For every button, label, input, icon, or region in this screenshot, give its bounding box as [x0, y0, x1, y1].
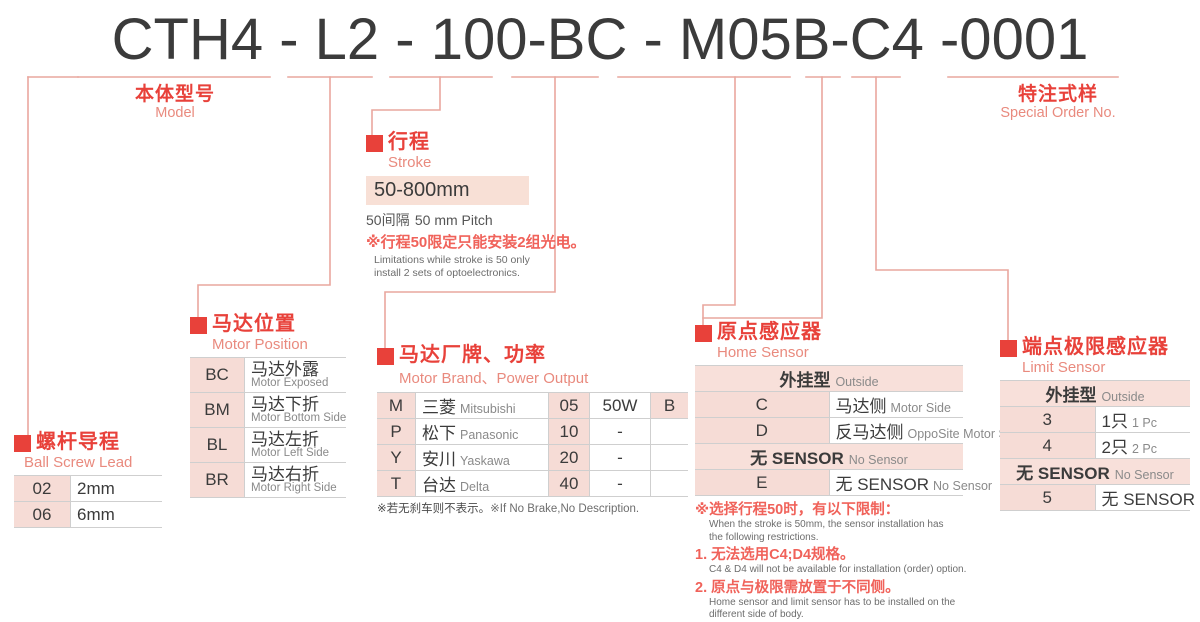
cell-value-cn: 马达下折 [251, 396, 340, 414]
block-model-title-cn: 本体型号 [105, 85, 245, 105]
block-motor-position: 马达位置 Motor Position BC 马达外露 Motor Expose… [190, 314, 346, 498]
band-outside: 外挂型Outside [695, 366, 963, 392]
block-ball-screw-lead-title-cn: 螺杆导程 [36, 431, 120, 453]
cell-code: 3 [1000, 407, 1095, 433]
note-item1-cn: 1. 无法选用C4;D4规格。 [695, 546, 995, 564]
stroke-pitch-en: 50 mm Pitch [415, 212, 493, 228]
cell-value-cn: 无 SENSOR [1102, 490, 1196, 509]
table-band-row: 外挂型Outside [1000, 381, 1190, 407]
cell-value-cn: 反马达侧 [836, 423, 904, 442]
cell-code: BL [190, 428, 245, 463]
table-row: BL 马达左折 Motor Left Side [190, 428, 346, 463]
cell-brand-cn: 安川 [422, 450, 456, 469]
block-stroke-title-cn: 行程 [388, 131, 430, 153]
note-item2-cn: 2. 原点与极限需放置于不同侧。 [695, 579, 995, 597]
motor-brand-footnote-en: ※If No Brake,No Description. [490, 503, 639, 515]
home-sensor-table: 外挂型Outside C 马达侧Motor Side D 反马达侧OppoSit… [695, 365, 963, 496]
block-motor-brand-title-cn: 马达厂牌、功率 [399, 344, 546, 366]
cell-power-code: 05 [549, 393, 590, 419]
cell-brake-code [651, 471, 689, 497]
cell-value: 马达侧Motor Side [829, 392, 963, 418]
cell-brand: 安川Yaskawa [416, 445, 549, 471]
block-motor-brand: 马达厂牌、功率 Motor Brand、Power Output M 三菱Mit… [377, 345, 688, 516]
cell-brand: 松下Panasonic [416, 419, 549, 445]
band-outside-cn: 外挂型 [1045, 386, 1096, 405]
block-home-sensor-heading: 原点感应器 [695, 322, 995, 343]
stroke-note-cn: ※行程50限定只能安装2组光电。 [366, 234, 586, 252]
cell-code: 4 [1000, 433, 1095, 459]
table-row: 4 2只2 Pc [1000, 433, 1190, 459]
table-row: Y 安川Yaskawa 20 - [377, 445, 688, 471]
band-no-sensor-en: No Sensor [849, 453, 908, 467]
table-band-row: 无 SENSORNo Sensor [1000, 459, 1190, 485]
cell-value-en: Motor Left Side [251, 447, 340, 459]
cell-value: 2mm [71, 476, 163, 502]
motor-brand-table: M 三菱Mitsubishi 05 50W B P 松下Panasonic 10… [377, 392, 688, 497]
cell-brake-code [651, 445, 689, 471]
block-special-order: 特注式样 Special Order No. [963, 85, 1153, 122]
cell-code: 5 [1000, 485, 1095, 511]
block-limit-sensor-title-cn: 端点极限感应器 [1022, 336, 1169, 358]
cell-value-cn: 马达侧 [836, 397, 887, 416]
block-model: 本体型号 Model [105, 85, 245, 122]
cell-value-en: 1 Pc [1132, 416, 1157, 430]
limit-sensor-table: 外挂型Outside 3 1只1 Pc 4 2只2 Pc 无 SENSORNo … [1000, 380, 1190, 511]
block-home-sensor: 原点感应器 Home Sensor 外挂型Outside C 马达侧Motor … [695, 322, 995, 622]
block-motor-position-heading: 马达位置 [190, 314, 346, 335]
cell-code: BC [190, 358, 245, 393]
cell-value-cn: 无 SENSOR [836, 475, 930, 494]
table-row: BR 马达右折 Motor Right Side [190, 463, 346, 498]
cell-brand-code: P [377, 419, 416, 445]
table-row: D 反马达侧OppoSite Motor Side [695, 418, 963, 444]
cell-code: BR [190, 463, 245, 498]
table-row: T 台达Delta 40 - [377, 471, 688, 497]
cell-watt: - [590, 419, 651, 445]
cell-value-en: Motor Exposed [251, 377, 340, 389]
cell-code: C [695, 392, 829, 418]
cell-watt: 50W [590, 393, 651, 419]
cell-value-cn: 马达左折 [251, 431, 340, 449]
table-row: 02 2mm [14, 476, 162, 502]
cell-value: 无 SENSORNo Sensor [829, 470, 963, 496]
bullet-square-icon [366, 135, 383, 152]
table-row: 3 1只1 Pc [1000, 407, 1190, 433]
note-title-en-1: When the stroke is 50mm, the sensor inst… [709, 519, 995, 532]
cell-value: 马达右折 Motor Right Side [245, 463, 347, 498]
block-limit-sensor: 端点极限感应器 Limit Sensor 外挂型Outside 3 1只1 Pc… [1000, 337, 1190, 511]
cell-value-cn: 马达右折 [251, 466, 340, 484]
table-band-row: 无 SENSORNo Sensor [695, 444, 963, 470]
table-row: BC 马达外露 Motor Exposed [190, 358, 346, 393]
block-limit-sensor-heading: 端点极限感应器 [1000, 337, 1190, 358]
cell-value-cn: 2只 [1102, 438, 1128, 457]
cell-brand: 台达Delta [416, 471, 549, 497]
band-no-sensor: 无 SENSORNo Sensor [1000, 459, 1190, 485]
table-row: P 松下Panasonic 10 - [377, 419, 688, 445]
block-stroke: 行程 Stroke 50-800mm 50间隔 50 mm Pitch ※行程5… [366, 132, 586, 280]
bullet-square-icon [14, 435, 31, 452]
bullet-square-icon [190, 317, 207, 334]
block-stroke-title-en: Stroke [388, 154, 586, 171]
cell-brand-code: T [377, 471, 416, 497]
cell-brand-code: Y [377, 445, 416, 471]
band-no-sensor-en: No Sensor [1115, 468, 1174, 482]
band-outside: 外挂型Outside [1000, 381, 1190, 407]
band-outside-cn: 外挂型 [779, 371, 830, 390]
part-number-code: CTH4 - L2 - 100-BC - M05B-C4 -0001 [0, 6, 1200, 73]
cell-value-en: Motor Side [891, 401, 951, 415]
cell-brand-cn: 松下 [422, 424, 456, 443]
motor-brand-footnote-cn: ※若无刹车则不表示。 [377, 503, 490, 515]
cell-value: 马达左折 Motor Left Side [245, 428, 347, 463]
block-limit-sensor-title-en: Limit Sensor [1022, 359, 1190, 376]
cell-power-code: 40 [549, 471, 590, 497]
motor-brand-footnote: ※若无刹车则不表示。※If No Brake,No Description. [377, 500, 688, 516]
cell-brand-code: M [377, 393, 416, 419]
band-outside-en: Outside [835, 375, 878, 389]
table-band-row: 外挂型Outside [695, 366, 963, 392]
stroke-note-en-2: install 2 sets of optoelectronics. [374, 267, 586, 280]
bullet-square-icon [1000, 340, 1017, 357]
block-stroke-heading: 行程 [366, 132, 586, 153]
bullet-square-icon [695, 325, 712, 342]
band-no-sensor-cn: 无 SENSOR [1016, 464, 1110, 483]
cell-brand: 三菱Mitsubishi [416, 393, 549, 419]
band-no-sensor-cn: 无 SENSOR [750, 449, 844, 468]
cell-value-cn: 马达外露 [251, 361, 340, 379]
ball-screw-lead-table: 02 2mm 06 6mm [14, 475, 162, 528]
cell-watt: - [590, 445, 651, 471]
band-no-sensor: 无 SENSORNo Sensor [695, 444, 963, 470]
cell-watt: - [590, 471, 651, 497]
table-row: M 三菱Mitsubishi 05 50W B [377, 393, 688, 419]
bullet-square-icon [377, 348, 394, 365]
block-ball-screw-lead-heading: 螺杆导程 [14, 432, 162, 453]
cell-value-en: 2 Pc [1132, 442, 1157, 456]
note-title-en-2: the following restrictions. [709, 532, 995, 545]
cell-value: 6mm [71, 502, 163, 528]
cell-power-code: 10 [549, 419, 590, 445]
block-home-sensor-title-cn: 原点感应器 [717, 321, 822, 343]
table-row: 06 6mm [14, 502, 162, 528]
band-outside-en: Outside [1101, 390, 1144, 404]
block-special-order-title-en: Special Order No. [963, 105, 1153, 122]
cell-brand-en: Yaskawa [460, 454, 510, 468]
cell-brand-cn: 台达 [422, 476, 456, 495]
cell-code: E [695, 470, 829, 496]
block-ball-screw-lead-title-en: Ball Screw Lead [24, 454, 162, 471]
block-special-order-title-cn: 特注式样 [963, 85, 1153, 105]
block-ball-screw-lead: 螺杆导程 Ball Screw Lead 02 2mm 06 6mm [14, 432, 162, 528]
cell-value: 2只2 Pc [1095, 433, 1190, 459]
motor-position-table: BC 马达外露 Motor Exposed BM 马达下折 Motor Bott… [190, 357, 346, 498]
stroke-range-bar: 50-800mm [366, 176, 529, 205]
cell-value: 1只1 Pc [1095, 407, 1190, 433]
cell-brand-cn: 三菱 [422, 398, 456, 417]
table-row: BM 马达下折 Motor Bottom Side [190, 393, 346, 428]
block-home-sensor-title-en: Home Sensor [717, 344, 995, 361]
block-model-title-en: Model [105, 105, 245, 122]
block-motor-brand-heading: 马达厂牌、功率 [377, 345, 688, 366]
stroke-pitch-cn: 50间隔 [366, 212, 410, 228]
home-sensor-notes: ※选择行程50时，有以下限制： When the stroke is 50mm,… [695, 501, 995, 622]
note-item2-en-2: different side of body. [709, 609, 995, 622]
cell-value: 马达外露 Motor Exposed [245, 358, 347, 393]
cell-value-en: Motor Right Side [251, 482, 340, 494]
table-row: 5 无 SENSORNo Sensor [1000, 485, 1190, 511]
cell-value: 马达下折 Motor Bottom Side [245, 393, 347, 428]
cell-brand-en: Panasonic [460, 428, 518, 442]
cell-power-code: 20 [549, 445, 590, 471]
cell-value: 无 SENSORNo Sensor [1095, 485, 1190, 511]
block-motor-position-title-en: Motor Position [212, 336, 346, 353]
note-title-cn: ※选择行程50时，有以下限制： [695, 501, 995, 519]
table-row: E 无 SENSORNo Sensor [695, 470, 963, 496]
cell-code: BM [190, 393, 245, 428]
cell-brake-code [651, 419, 689, 445]
cell-value-en: Motor Bottom Side [251, 412, 340, 424]
stroke-pitch: 50间隔 50 mm Pitch [366, 209, 586, 231]
block-motor-position-title-cn: 马达位置 [212, 313, 296, 335]
note-item2-en-1: Home sensor and limit sensor has to be i… [709, 597, 995, 610]
cell-value-en: No Sensor [933, 479, 992, 493]
cell-code: 06 [14, 502, 71, 528]
cell-code: 02 [14, 476, 71, 502]
stroke-note-en-1: Limitations while stroke is 50 only [374, 254, 586, 267]
cell-brake-code: B [651, 393, 689, 419]
cell-brand-en: Delta [460, 480, 489, 494]
block-motor-brand-title-en: Motor Brand、Power Output [399, 367, 688, 388]
cell-value-cn: 1只 [1102, 412, 1128, 431]
cell-brand-en: Mitsubishi [460, 402, 516, 416]
cell-code: D [695, 418, 829, 444]
cell-value: 反马达侧OppoSite Motor Side [829, 418, 963, 444]
note-item1-en: C4 & D4 will not be available for instal… [709, 564, 995, 577]
table-row: C 马达侧Motor Side [695, 392, 963, 418]
